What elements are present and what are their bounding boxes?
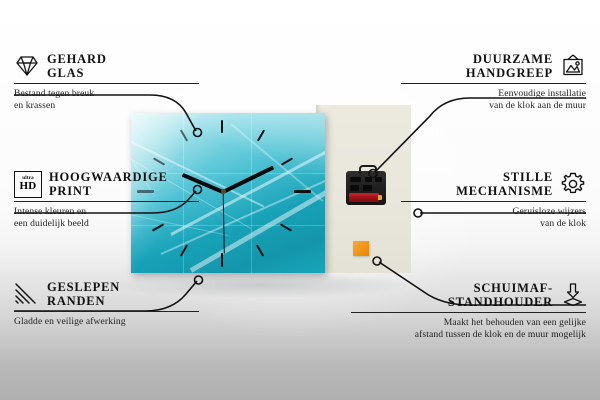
product-infographic: GEHARD GLAS Bestand tegen breuk en krass… <box>0 0 600 400</box>
feature-desc-line1: Intense kleuren en <box>14 206 199 218</box>
clock-center-hub <box>221 189 226 194</box>
feature-title-line2: GLAS <box>47 66 107 80</box>
ultra-hd-icon: ultra HD <box>14 171 42 198</box>
feature-header: DUURZAME HANDGREEP <box>401 52 586 80</box>
feature-desc-line2: een duidelijk beeld <box>14 218 199 230</box>
diamond-icon <box>14 53 40 79</box>
divider <box>401 201 586 202</box>
feature-desc-line2: afstand tussen de klok en de muur mogeli… <box>351 329 586 341</box>
divider <box>14 311 199 312</box>
feature-stille-mechanisme: STILLE MECHANISME Geruisloze wijzers van… <box>401 170 586 229</box>
hour-marker <box>294 190 311 193</box>
feature-title-line2: PRINT <box>49 184 168 198</box>
feature-title-line1: DUURZAME <box>466 52 553 66</box>
feature-duurzame-handgreep: DUURZAME HANDGREEP Eenvoudige installati… <box>401 52 586 111</box>
divider <box>401 83 586 84</box>
hour-marker <box>221 120 223 133</box>
clock-movement <box>346 171 386 205</box>
feature-desc-line1: Bestand tegen breuk <box>14 88 199 100</box>
divider <box>351 312 586 313</box>
spacer-stack-icon <box>560 282 586 308</box>
feature-schuimafstandhouder: SCHUIMAF- STANDHOUDER Maakt het behouden… <box>351 281 586 340</box>
feature-header: GEHARD GLAS <box>14 52 199 80</box>
feature-title-line1: HOOGWAARDIGE <box>49 170 168 184</box>
feature-title-line1: GEHARD <box>47 52 107 66</box>
divider <box>14 201 199 202</box>
feature-header: SCHUIMAF- STANDHOUDER <box>351 281 586 309</box>
feature-title-line2: MECHANISME <box>456 184 553 198</box>
feature-header: ultra HD HOOGWAARDIGE PRINT <box>14 170 199 198</box>
feature-title-line2: RANDEN <box>47 294 120 308</box>
feature-header: STILLE MECHANISME <box>401 170 586 198</box>
foam-spacer <box>353 241 369 256</box>
feature-title-line2: HANDGREEP <box>466 66 553 80</box>
feature-header: GESLEPEN RANDEN <box>14 280 199 308</box>
divider <box>14 83 199 84</box>
feature-desc-line2: van de klok aan de muur <box>401 100 586 112</box>
gear-icon <box>560 171 586 197</box>
feature-desc-line2: en krassen <box>14 100 199 112</box>
feature-desc-line1: Eenvoudige installatie <box>401 88 586 100</box>
feature-title-line1: STILLE <box>456 170 553 184</box>
feature-title-line2: STANDHOUDER <box>448 295 553 309</box>
hour-marker <box>221 253 223 267</box>
feature-hoogwaardige-print: ultra HD HOOGWAARDIGE PRINT Intense kleu… <box>14 170 199 229</box>
battery <box>349 193 379 202</box>
feature-desc-line1: Maakt het behouden van een gelijke <box>351 317 586 329</box>
picture-frame-icon <box>560 53 586 79</box>
feature-title-line1: SCHUIMAF- <box>448 281 553 295</box>
beveled-edge-icon <box>14 281 40 307</box>
feature-desc-line1: Gladde en veilige afwerking <box>14 316 199 328</box>
feature-desc-line2: van de klok <box>401 218 586 230</box>
ultra-hd-large-label: HD <box>19 181 36 192</box>
feature-desc-line1: Geruisloze wijzers <box>401 206 586 218</box>
feature-geslepen-randen: GESLEPEN RANDEN Gladde en veilige afwerk… <box>14 280 199 328</box>
feature-title-line1: GESLEPEN <box>47 280 120 294</box>
hanger-loop <box>359 165 377 175</box>
feature-gehard-glas: GEHARD GLAS Bestand tegen breuk en krass… <box>14 52 199 111</box>
